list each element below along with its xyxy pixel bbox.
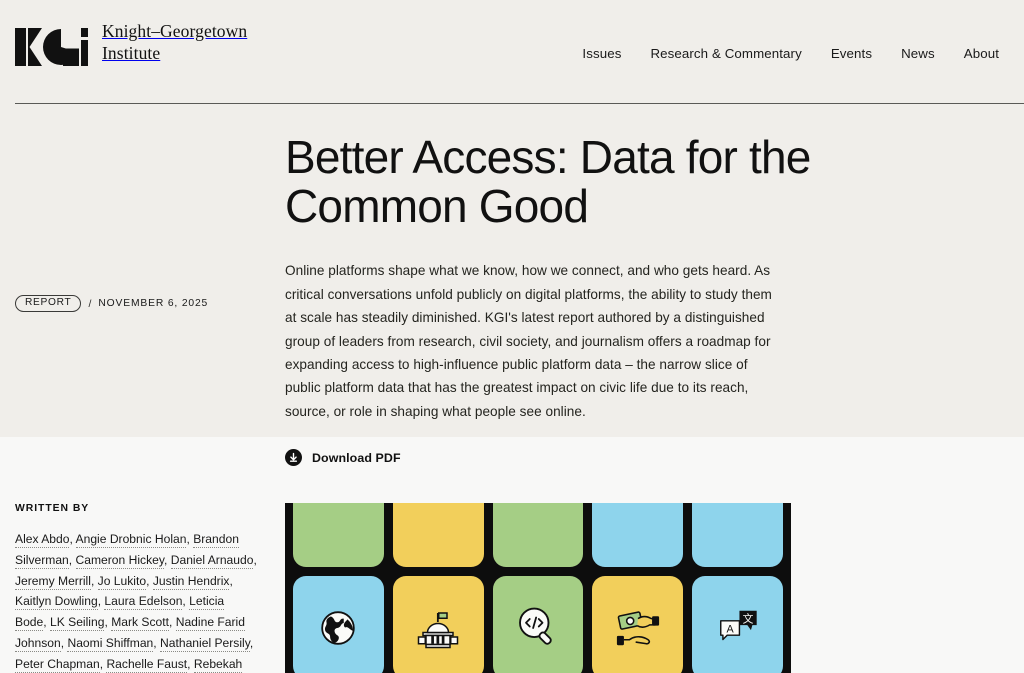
icon-tile-grid: 文A — [285, 503, 791, 673]
code-search-icon — [514, 604, 562, 652]
author-link[interactable]: Laura Edelson — [104, 594, 182, 610]
article-hero-illustration: 文A — [285, 503, 791, 673]
author-link[interactable]: Jeremy Merrill — [15, 574, 91, 590]
article-body-section: WRITTEN BY Alex Abdo, Angie Drobnic Hola… — [0, 437, 1024, 673]
download-pdf-button[interactable]: Download PDF — [285, 449, 401, 466]
illustration-tile — [493, 503, 584, 567]
illustration-tile-money-exchange-hands-icon — [592, 576, 683, 673]
author-link[interactable]: Rachelle Faust — [106, 657, 187, 673]
nav-item-about[interactable]: About — [964, 46, 999, 61]
meta-separator: / — [88, 298, 91, 310]
government-building-icon — [414, 604, 462, 652]
translate-speech-bubble-icon: 文A — [715, 605, 761, 651]
author-link[interactable]: Daniel Arnaudo — [171, 553, 254, 569]
author-link[interactable]: Alex Abdo — [15, 532, 69, 548]
download-pdf-label: Download PDF — [312, 451, 401, 465]
svg-text:文: 文 — [742, 612, 753, 625]
svg-text:A: A — [726, 623, 734, 635]
main-navigation: Issues Research & Commentary Events News… — [582, 20, 1009, 61]
hero-section: Knight–Georgetown Institute Issues Resea… — [0, 0, 1024, 437]
illustration-tile — [293, 503, 384, 567]
author-link[interactable]: Peter Chapman — [15, 657, 100, 673]
illustration-tile-government-building-icon — [393, 576, 484, 673]
article-meta: REPORT / NOVEMBER 6, 2025 — [15, 133, 285, 468]
author-link[interactable]: Angie Drobnic Holan — [76, 532, 187, 548]
illustration-tile — [692, 503, 783, 567]
hero-content: REPORT / NOVEMBER 6, 2025 Better Access:… — [0, 103, 1024, 468]
brand-name: Knight–Georgetown Institute — [102, 20, 247, 65]
author-list: Alex Abdo, Angie Drobnic Holan, Brandon … — [15, 529, 259, 673]
brand-home-link[interactable]: Knight–Georgetown Institute — [15, 20, 247, 65]
nav-item-issues[interactable]: Issues — [582, 46, 621, 61]
byline-block: WRITTEN BY Alex Abdo, Angie Drobnic Hola… — [15, 503, 285, 673]
author-link[interactable]: Justin Hendrix — [153, 574, 230, 590]
category-badge-report[interactable]: REPORT — [15, 295, 81, 312]
nav-item-news[interactable]: News — [901, 46, 935, 61]
illustration-tile-code-search-icon — [493, 576, 584, 673]
author-link[interactable]: Nathaniel Persily — [160, 636, 250, 652]
globe-icon — [315, 605, 361, 651]
illustration-tile — [592, 503, 683, 567]
author-link[interactable]: Naomi Shiffman — [67, 636, 153, 652]
nav-item-research-commentary[interactable]: Research & Commentary — [650, 46, 801, 61]
author-link[interactable]: Cameron Hickey — [76, 553, 165, 569]
illustration-tile-translate-speech-bubble-icon: 文A — [692, 576, 783, 673]
article-summary: Online platforms shape what we know, how… — [285, 259, 777, 423]
author-link[interactable]: LK Seiling — [50, 615, 104, 631]
publish-date: NOVEMBER 6, 2025 — [98, 298, 208, 309]
author-link[interactable]: Jo Lukito — [98, 574, 146, 590]
download-arrow-icon — [285, 449, 302, 466]
byline-heading: WRITTEN BY — [15, 503, 259, 514]
author-link[interactable]: Mark Scott — [111, 615, 169, 631]
header-divider — [15, 103, 1024, 104]
nav-item-events[interactable]: Events — [831, 46, 872, 61]
illustration-tile — [393, 503, 484, 567]
money-exchange-hands-icon — [613, 603, 663, 653]
page-title: Better Access: Data for the Common Good — [285, 133, 1004, 231]
author-link[interactable]: Kaitlyn Dowling — [15, 594, 98, 610]
illustration-tile-globe-icon — [293, 576, 384, 673]
kgi-monogram-logo-icon — [15, 24, 88, 62]
site-header: Knight–Georgetown Institute Issues Resea… — [0, 0, 1024, 103]
